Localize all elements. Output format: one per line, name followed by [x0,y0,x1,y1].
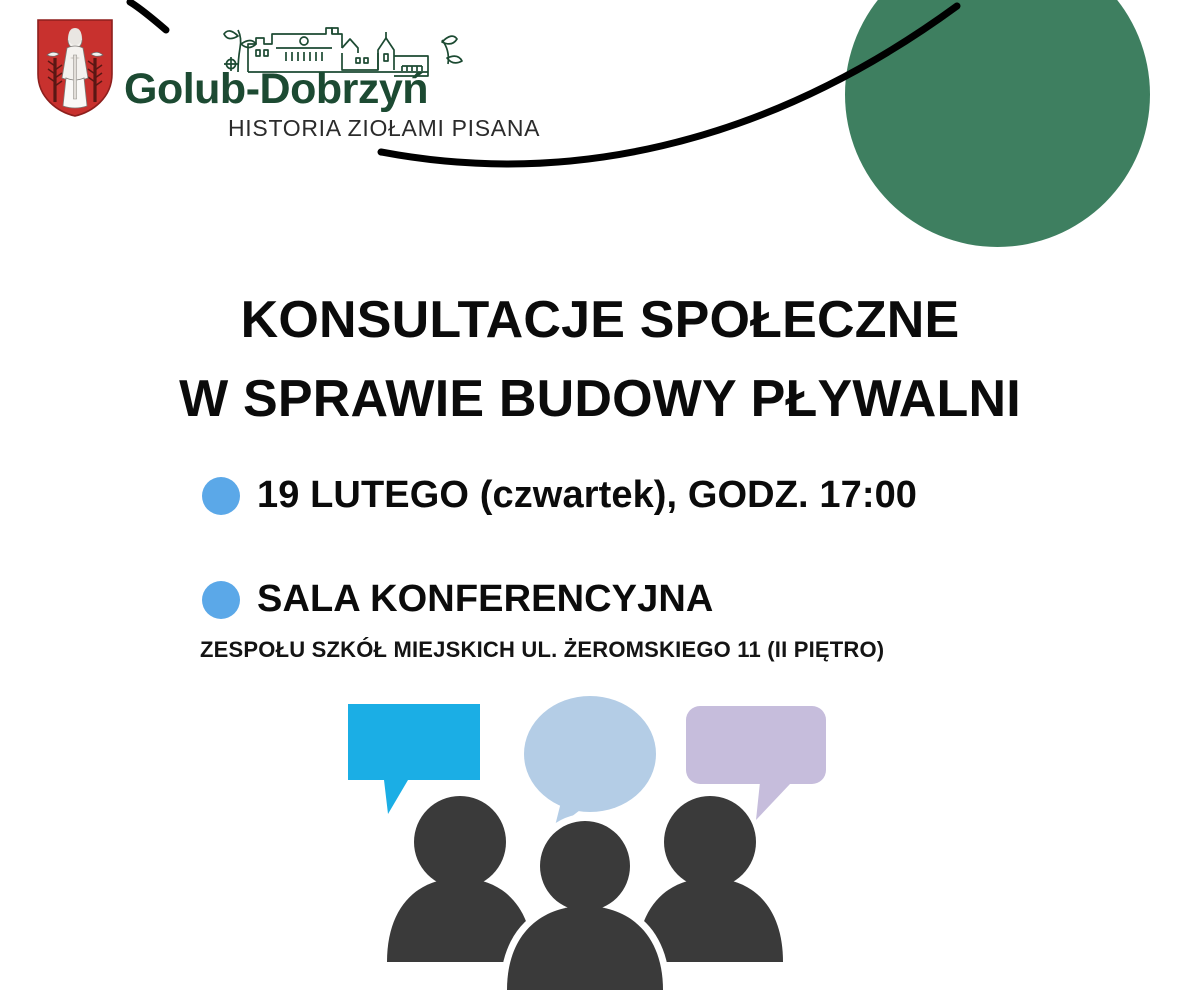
page-title-line-1: KONSULTACJE SPOŁECZNE [0,281,1200,360]
event-date-row: 19 LUTEGO (czwartek), GODZ. 17:00 [202,474,917,517]
person-silhouette-left [387,796,533,962]
city-tagline: HISTORIA ZIOŁAMI PISANA [228,115,540,142]
bullet-point-icon [202,581,240,619]
event-venue-text: SALA KONFERENCYJNA [257,578,713,621]
event-venue-row: SALA KONFERENCYJNA [202,578,713,621]
coat-of-arms-icon [36,18,114,118]
event-address-text: ZESPOŁU SZKÓŁ MIEJSKICH UL. ŻEROMSKIEGO … [200,637,884,663]
city-logo: Golub-Dobrzyń HISTORIA ZIOŁAMI PISANA [36,18,540,142]
three-people-with-speech-bubbles-illustration [330,690,840,1006]
center-speech-bubble-icon [524,696,656,830]
bullet-point-icon [202,477,240,515]
city-wordmark: Golub-Dobrzyń [124,68,540,111]
page-title: KONSULTACJE SPOŁECZNE W SPRAWIE BUDOWY P… [0,281,1200,439]
person-silhouette-center [500,814,670,992]
green-circle-decoration [845,0,1150,247]
person-silhouette-right [637,796,783,962]
event-date-text: 19 LUTEGO (czwartek), GODZ. 17:00 [257,474,917,517]
page-title-line-2: W SPRAWIE BUDOWY PŁYWALNI [0,360,1200,439]
